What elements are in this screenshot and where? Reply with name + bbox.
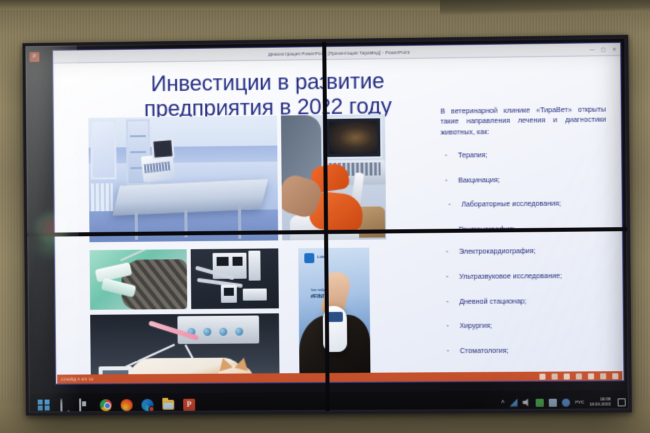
volume-icon[interactable] — [523, 398, 531, 406]
window-title: Демонстрация PowerPoint - [Презентация Т… — [268, 49, 326, 56]
bullet-dash: - — [445, 150, 450, 160]
display-panel-top-right[interactable]: P Демонстрация PowerPoint - [Презентация… — [324, 38, 627, 232]
maximize-button[interactable]: ▢ — [600, 47, 606, 53]
all-slides-icon[interactable] — [588, 373, 594, 379]
powerpoint-icon: P — [29, 52, 39, 62]
display-panel-bottom-left[interactable]: P Демонстрация PowerPoint - [Презентация… — [27, 232, 328, 413]
exam-room-ultrasound-photo — [88, 232, 278, 242]
task-view-icon[interactable] — [79, 399, 91, 411]
powerpoint-window-tl[interactable]: P Демонстрация PowerPoint - [Презентация… — [324, 42, 624, 232]
photo-brand-label: Lidoks — [326, 254, 327, 259]
desktop-tl: P Демонстрация PowerPoint - [Презентация… — [26, 42, 326, 235]
slide-title: Инвестиции в развитие предприятия в 2022… — [100, 68, 326, 121]
end-show-icon[interactable] — [612, 373, 618, 379]
bullet-dash: - — [447, 346, 452, 356]
list-item: - Электрокардиография; — [442, 245, 608, 257]
microchip-scanner-photo: Lidoks Чип найден от #FIND TAGS — [326, 248, 371, 384]
powerpoint-taskbar-icon[interactable]: P — [183, 398, 195, 410]
list-item: - Лабораторные исследования; — [441, 199, 607, 211]
slide-canvas-tl: Инвестиции в развитие предприятия в 2022… — [54, 232, 328, 384]
bullet-dash: - — [446, 321, 451, 331]
display-panel-bottom-right[interactable]: P Демонстрация PowerPoint - [Презентация… — [326, 229, 629, 411]
display-panel-top-left[interactable]: P Демонстрация PowerPoint - [Презентация… — [25, 42, 326, 235]
bullet-dash: - — [446, 297, 451, 307]
minimize-button[interactable]: — — [589, 47, 595, 53]
firefox-icon[interactable] — [121, 399, 133, 411]
vet-ultrasound-scan-photo — [281, 114, 326, 235]
slide-body-text: В ветеринарной клинике «ТираВет» открыты… — [440, 229, 609, 383]
vet-ultrasound-scan-photo — [281, 232, 328, 240]
next-slide-icon[interactable] — [564, 373, 570, 379]
bullet-dash: - — [445, 175, 450, 185]
slide-zoom-icon[interactable] — [576, 373, 582, 379]
notification-center-icon[interactable] — [618, 398, 626, 406]
network-icon[interactable] — [510, 398, 518, 406]
slide-counter: СЛАЙД 9 ИЗ 16 — [61, 376, 94, 381]
photo-brand-logo-icon — [304, 253, 314, 263]
bullet-text: Стоматология; — [460, 345, 608, 356]
bullet-text: Вакцинация; — [458, 174, 606, 186]
list-item: - Ультразвуковое исследование; — [442, 270, 608, 282]
bullet-dash: - — [446, 272, 451, 282]
bluetooth-icon[interactable] — [562, 398, 570, 406]
desktop-tl: P Демонстрация PowerPoint - [Презентация… — [27, 232, 328, 413]
slide-intro-paragraph: В ветеринарной клинике «ТираВет» открыты… — [440, 105, 606, 138]
previous-slide-icon[interactable] — [540, 373, 546, 379]
medical-equipment-photo — [191, 248, 279, 309]
microchip-scanner-photo: Lidoks Чип найден от #FIND TAGS — [298, 248, 328, 384]
windows-logo-icon[interactable] — [38, 399, 50, 411]
screen-content-tl: P Демонстрация PowerPoint - [Презентация… — [26, 42, 326, 235]
desktop-tl: P Демонстрация PowerPoint - [Презентация… — [324, 39, 627, 232]
powerpoint-window-tl[interactable]: P Демонстрация PowerPoint - [Презентация… — [52, 232, 328, 385]
bullet-text: Лабораторные исследования; — [461, 199, 606, 211]
language-indicator[interactable]: РУС — [575, 400, 584, 405]
clock-date: 18.04.2023 — [589, 402, 610, 407]
more-options-icon[interactable] — [600, 373, 606, 379]
windows-taskbar[interactable]: P ˄ РУС 15:09 18.04.2023 — [326, 390, 629, 411]
cat-injection-photo — [90, 249, 188, 310]
display-icon[interactable] — [549, 398, 557, 406]
screen-content-bl: P Демонстрация PowerPoint - [Презентация… — [27, 232, 328, 413]
tray-overflow-icon[interactable]: ˄ — [501, 399, 505, 407]
bullet-text: Ультразвуковое исследование; — [459, 270, 607, 282]
bullet-text: Хирургия; — [459, 320, 607, 331]
green-shield-icon[interactable] — [536, 398, 544, 406]
system-tray[interactable]: ˄ РУС 15:09 18.04.2023 — [501, 397, 629, 407]
slide-body-text: В ветеринарной клинике «ТираВет» открыты… — [440, 105, 609, 232]
list-item: - Вакцинация; — [441, 174, 607, 186]
bullet-text: Электрокардиография; — [459, 245, 607, 257]
list-item: - Терапия; — [441, 149, 607, 161]
close-button[interactable]: ✕ — [611, 47, 617, 53]
bullet-text: Рентгенография; — [459, 229, 607, 232]
screen-content-br: P Демонстрация PowerPoint - [Презентация… — [326, 229, 629, 411]
chrome-icon[interactable] — [100, 399, 112, 411]
bullet-text: Терапия; — [458, 149, 606, 161]
slideshow-controls[interactable] — [540, 373, 619, 380]
exam-room-ultrasound-photo — [88, 116, 278, 235]
bullet-dash: - — [446, 247, 451, 257]
desktop-tl: P Демонстрация PowerPoint - [Презентация… — [326, 229, 629, 411]
screen-content-tr: P Демонстрация PowerPoint - [Презентация… — [324, 39, 627, 232]
list-item: - Стоматология; — [443, 345, 609, 356]
clock[interactable]: 15:09 18.04.2023 — [589, 397, 612, 407]
taskbar-pinned-apps[interactable]: P — [34, 398, 195, 411]
slide-canvas-tl: Инвестиции в развитие предприятия в 2022… — [326, 229, 622, 383]
slideshow-status-bar[interactable]: СЛАЙД 9 ИЗ 16 — [326, 371, 622, 383]
list-item: - Хирургия; — [442, 320, 608, 332]
folder-icon[interactable] — [162, 400, 174, 410]
slide-canvas-tl: Инвестиции в развитие предприятия в 2022… — [324, 56, 622, 232]
window-title: Демонстрация PowerPoint - [Презентация Т… — [324, 49, 409, 56]
vet-ultrasound-scan-photo — [324, 114, 386, 232]
pointer-tools-icon[interactable] — [552, 373, 558, 379]
powerpoint-window-tl[interactable]: P Демонстрация PowerPoint - [Презентация… — [52, 42, 326, 235]
bullet-text: Дневной стационар; — [459, 295, 607, 306]
video-wall[interactable]: P Демонстрация PowerPoint - [Презентация… — [22, 35, 631, 416]
list-item: - Дневной стационар; — [442, 295, 608, 307]
search-icon[interactable] — [58, 399, 70, 411]
powerpoint-window-tl[interactable]: P Демонстрация PowerPoint - [Презентация… — [326, 229, 624, 384]
windows-taskbar[interactable]: P ˄ РУС 15:09 18.04.2023 — [30, 390, 328, 412]
window-controls-tl[interactable]: — ▢ ✕ — [589, 47, 617, 53]
slide-canvas-tl: Инвестиции в развитие предприятия в 2022… — [54, 56, 326, 235]
bullet-dash: - — [448, 200, 453, 210]
edge-icon[interactable] — [141, 399, 153, 411]
